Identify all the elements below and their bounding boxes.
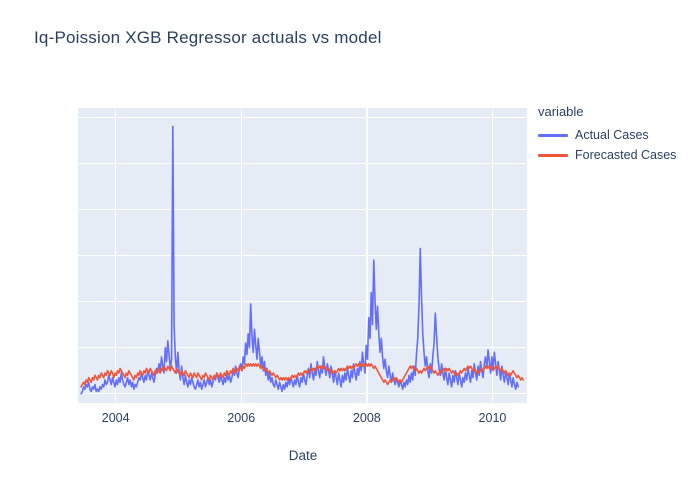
plot-area: [78, 108, 527, 403]
series-paths: [81, 126, 523, 393]
x-axis-tick-label: 2008: [353, 411, 381, 425]
legend-line-swatch: [538, 154, 568, 157]
x-axis-title: Date: [289, 448, 318, 463]
legend: variable Actual CasesForecasted Cases: [538, 104, 688, 165]
x-axis-tick-label: 2004: [102, 411, 130, 425]
legend-line-swatch: [538, 134, 568, 137]
series-layer: [78, 108, 527, 403]
legend-items: Actual CasesForecasted Cases: [538, 125, 688, 165]
legend-item[interactable]: Forecasted Cases: [538, 145, 688, 165]
legend-item[interactable]: Actual Cases: [538, 125, 688, 145]
plotly-figure: Iq-Poission XGB Regressor actuals vs mod…: [0, 0, 700, 500]
x-axis-tick-label: 2006: [227, 411, 255, 425]
chart-title: Iq-Poission XGB Regressor actuals vs mod…: [34, 28, 382, 48]
x-axis-tick-label: 2010: [479, 411, 507, 425]
legend-title: variable: [538, 104, 688, 119]
legend-item-label: Actual Cases: [575, 128, 649, 142]
series-line: [81, 126, 518, 393]
legend-item-label: Forecasted Cases: [575, 148, 676, 162]
